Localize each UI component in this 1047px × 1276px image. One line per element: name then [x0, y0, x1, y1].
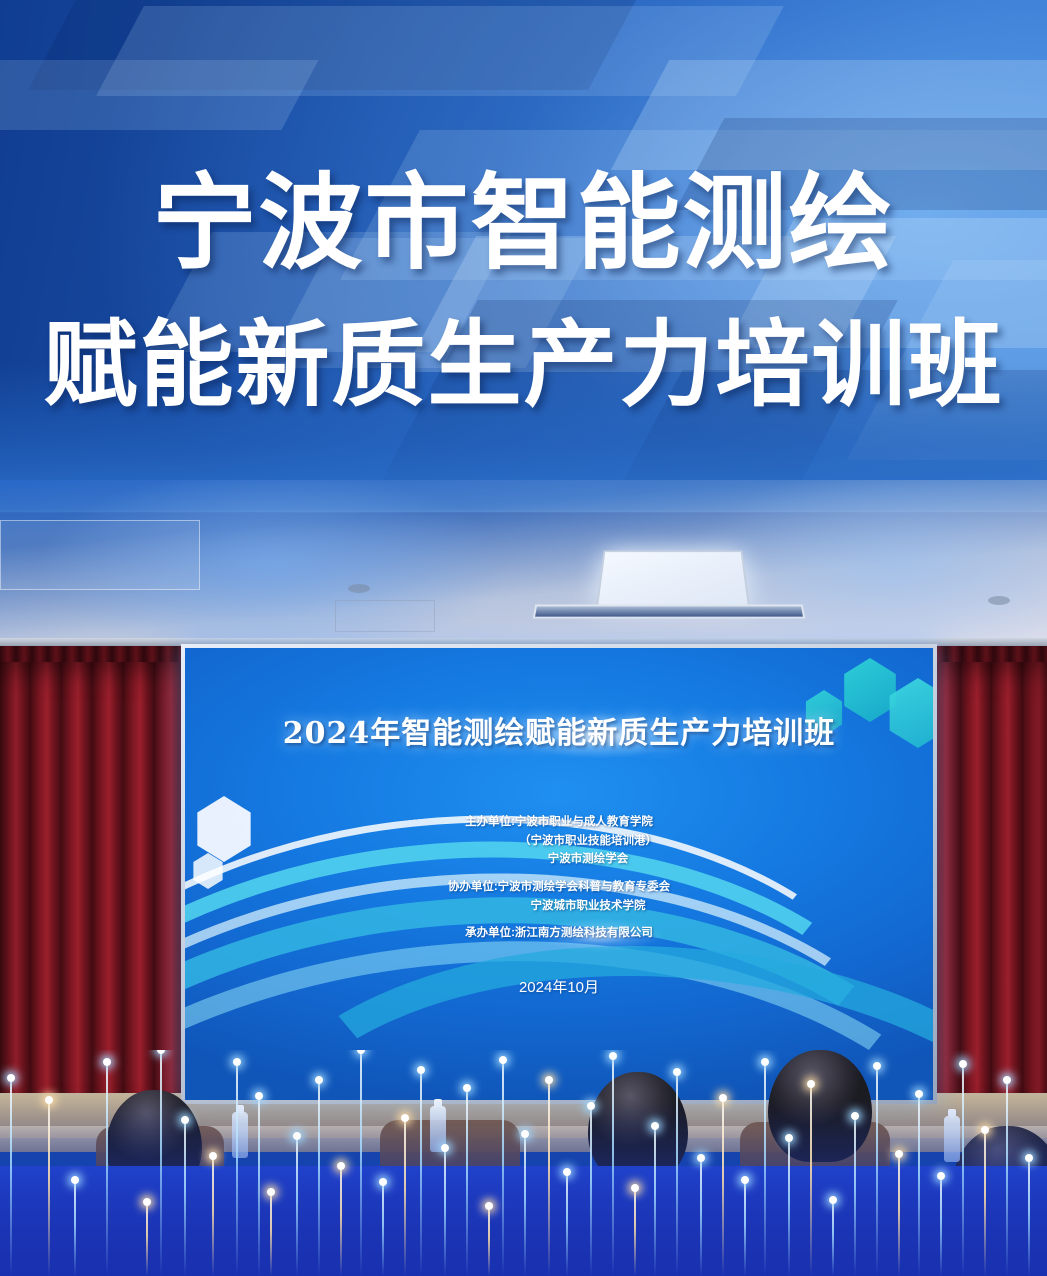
curtain-header-left — [0, 646, 186, 662]
light-streak-dot — [143, 1198, 151, 1206]
light-streak-dot — [651, 1122, 659, 1130]
light-streak — [566, 1172, 568, 1276]
light-streak-line — [788, 1138, 790, 1276]
organizer-line: 主办单位:宁波市职业与成人教育学院 — [185, 813, 933, 832]
light-streak — [940, 1176, 942, 1276]
light-streak-dot — [255, 1092, 263, 1100]
light-streak-dot — [357, 1050, 365, 1054]
light-streak-dot — [937, 1172, 945, 1180]
light-streak-dot — [631, 1184, 639, 1192]
light-streak — [810, 1084, 812, 1276]
light-streak-line — [700, 1158, 702, 1276]
light-streak-dot — [609, 1052, 617, 1060]
light-streak-dot — [267, 1188, 275, 1196]
light-streak — [420, 1070, 422, 1276]
light-streak-dot — [673, 1068, 681, 1076]
ceiling-speaker-left — [348, 584, 370, 593]
light-streak-dot — [807, 1080, 815, 1088]
light-streak — [788, 1138, 790, 1276]
organizer-line: 协办单位:宁波市测绘学会科普与教育专委会 — [185, 878, 933, 897]
light-streak-dot — [829, 1196, 837, 1204]
light-streak-line — [764, 1062, 766, 1276]
poster-root: 宁波市智能测绘 赋能新质生产力培训班 — [0, 0, 1047, 1276]
light-streak — [984, 1130, 986, 1276]
light-streak — [918, 1094, 920, 1276]
light-streak — [898, 1154, 900, 1276]
light-streak-line — [382, 1182, 384, 1276]
slide-title: 2024年智能测绘赋能新质生产力培训班 — [185, 708, 933, 752]
organizer-line: 承办单位:浙江南方测绘科技有限公司 — [185, 924, 933, 943]
light-streak — [654, 1126, 656, 1276]
light-streak — [466, 1088, 468, 1276]
light-streak-line — [810, 1084, 812, 1276]
light-streak-dot — [337, 1162, 345, 1170]
ceiling-panel-seam — [0, 520, 200, 590]
light-streak-dot — [463, 1084, 471, 1092]
light-streak-dot — [895, 1150, 903, 1158]
light-streak-line — [340, 1166, 342, 1276]
light-streak-line — [444, 1148, 446, 1276]
light-streak-line — [548, 1080, 550, 1276]
light-streak-line — [258, 1096, 260, 1276]
light-streak-line — [10, 1078, 12, 1276]
light-streak-line — [524, 1134, 526, 1276]
light-streak-dot — [315, 1076, 323, 1084]
light-streak-line — [488, 1206, 490, 1276]
ceiling-light-panel — [596, 551, 750, 607]
light-streak-dot — [45, 1096, 53, 1104]
light-streak-line — [854, 1116, 856, 1276]
light-streak — [212, 1156, 214, 1276]
light-streak-line — [160, 1050, 162, 1276]
light-streak-line — [404, 1118, 406, 1276]
light-streak — [1006, 1080, 1008, 1276]
light-streak — [404, 1118, 406, 1276]
light-streak-dot — [103, 1058, 111, 1066]
light-streak — [106, 1062, 108, 1276]
light-streak-dot — [379, 1178, 387, 1186]
light-streak-dot — [697, 1154, 705, 1162]
light-streak — [764, 1062, 766, 1276]
light-streak-dot — [157, 1050, 165, 1054]
light-streak-line — [270, 1192, 272, 1276]
light-streak-line — [566, 1172, 568, 1276]
light-streak-dot — [741, 1176, 749, 1184]
light-streak-line — [832, 1200, 834, 1276]
light-streak-line — [634, 1188, 636, 1276]
curtain-header-right — [930, 646, 1047, 662]
organizer-line: 宁波城市职业技术学院 — [185, 897, 933, 916]
light-streak — [854, 1116, 856, 1276]
light-streak — [270, 1192, 272, 1276]
banner-title-line-2: 赋能新质生产力培训班 — [0, 316, 1047, 416]
light-streak-line — [962, 1064, 964, 1276]
light-streak-dot — [7, 1074, 15, 1082]
light-streak-dot — [981, 1126, 989, 1134]
light-streak-dot — [851, 1112, 859, 1120]
light-streak-line — [612, 1056, 614, 1276]
light-streak — [184, 1120, 186, 1276]
light-streak-line — [722, 1098, 724, 1276]
light-streak — [612, 1056, 614, 1276]
light-streak — [488, 1206, 490, 1276]
organizer-group-coorganizer: 协办单位:宁波市测绘学会科普与教育专委会 宁波城市职业技术学院 — [185, 878, 933, 915]
light-streak-line — [984, 1130, 986, 1276]
light-streak — [634, 1188, 636, 1276]
light-streak-line — [654, 1126, 656, 1276]
light-streak-dot — [1003, 1076, 1011, 1084]
light-streak — [548, 1080, 550, 1276]
light-streak-dot — [441, 1144, 449, 1152]
light-streak-dot — [293, 1132, 301, 1140]
banner-title: 宁波市智能测绘 赋能新质生产力培训班 — [0, 168, 1047, 416]
light-streak — [1028, 1158, 1030, 1276]
ceiling-speaker-right — [988, 596, 1010, 605]
light-streak-line — [106, 1062, 108, 1276]
light-streak — [74, 1180, 76, 1276]
light-streak — [382, 1182, 384, 1276]
light-streak — [876, 1066, 878, 1276]
light-streak-line — [466, 1088, 468, 1276]
light-streak-line — [590, 1106, 592, 1276]
light-streak-line — [744, 1180, 746, 1276]
light-streak-dot — [959, 1060, 967, 1068]
light-streak — [360, 1050, 362, 1276]
light-streak — [700, 1158, 702, 1276]
light-streak-dot — [233, 1058, 241, 1066]
organizer-group-host: 主办单位:宁波市职业与成人教育学院 （宁波市职业技能培训港） 宁波市测绘学会 — [185, 813, 933, 869]
light-streak-dot — [499, 1056, 507, 1064]
light-streak — [48, 1100, 50, 1276]
light-streak-dot — [181, 1116, 189, 1124]
light-streak-line — [360, 1050, 362, 1276]
organizer-line: 宁波市测绘学会 — [185, 850, 933, 869]
light-streak — [676, 1072, 678, 1276]
light-streak — [146, 1202, 148, 1276]
light-streak-line — [146, 1202, 148, 1276]
light-streak-line — [1006, 1080, 1008, 1276]
light-streak-dot — [563, 1168, 571, 1176]
organizer-group-undertaker: 承办单位:浙江南方测绘科技有限公司 — [185, 924, 933, 943]
light-streak-line — [318, 1080, 320, 1276]
light-streak-line — [676, 1072, 678, 1276]
light-streak-dot — [521, 1130, 529, 1138]
hall-ceiling — [0, 480, 1047, 650]
light-streak — [444, 1148, 446, 1276]
light-streak — [258, 1096, 260, 1276]
light-streak-line — [1028, 1158, 1030, 1276]
light-streak-dot — [417, 1066, 425, 1074]
light-streak-line — [296, 1136, 298, 1276]
light-streak-dot — [915, 1090, 923, 1098]
ceiling-air-vent — [533, 605, 806, 619]
light-streak — [962, 1064, 964, 1276]
light-streak — [502, 1060, 504, 1276]
light-streak-dot — [71, 1176, 79, 1184]
light-streak — [832, 1200, 834, 1276]
banner-title-line-1: 宁波市智能测绘 — [0, 168, 1047, 278]
light-streak-dot — [587, 1102, 595, 1110]
light-streaks-decor — [0, 1050, 1047, 1276]
light-streak — [236, 1062, 238, 1276]
light-streak — [160, 1050, 162, 1276]
organizer-line: （宁波市职业技能培训港） — [185, 832, 933, 851]
light-streak-line — [918, 1094, 920, 1276]
light-streak — [722, 1098, 724, 1276]
light-streak-dot — [719, 1094, 727, 1102]
light-streak — [296, 1136, 298, 1276]
light-streak-line — [420, 1070, 422, 1276]
light-streak-dot — [1025, 1154, 1033, 1162]
light-streak — [524, 1134, 526, 1276]
light-streak-line — [74, 1180, 76, 1276]
light-streak-dot — [209, 1152, 217, 1160]
slide-organizers: 主办单位:宁波市职业与成人教育学院 （宁波市职业技能培训港） 宁波市测绘学会 协… — [185, 813, 933, 952]
light-streak-dot — [545, 1076, 553, 1084]
light-streak-line — [48, 1100, 50, 1276]
light-streak-dot — [785, 1134, 793, 1142]
light-streak — [318, 1080, 320, 1276]
light-streak-line — [940, 1176, 942, 1276]
light-streak-line — [236, 1062, 238, 1276]
light-streak — [590, 1106, 592, 1276]
ceiling-access-hatch — [335, 600, 435, 632]
light-streak — [10, 1078, 12, 1276]
light-streak — [340, 1166, 342, 1276]
banner-header: 宁波市智能测绘 赋能新质生产力培训班 — [0, 0, 1047, 512]
light-streak-line — [184, 1120, 186, 1276]
light-streak-line — [212, 1156, 214, 1276]
light-streak-line — [898, 1154, 900, 1276]
slide-date: 2024年10月 — [185, 976, 933, 997]
light-streak-line — [502, 1060, 504, 1276]
light-streak-line — [876, 1066, 878, 1276]
light-streak-dot — [761, 1058, 769, 1066]
light-streak — [744, 1180, 746, 1276]
light-streak-dot — [485, 1202, 493, 1210]
light-streak-dot — [873, 1062, 881, 1070]
light-streak-dot — [401, 1114, 409, 1122]
